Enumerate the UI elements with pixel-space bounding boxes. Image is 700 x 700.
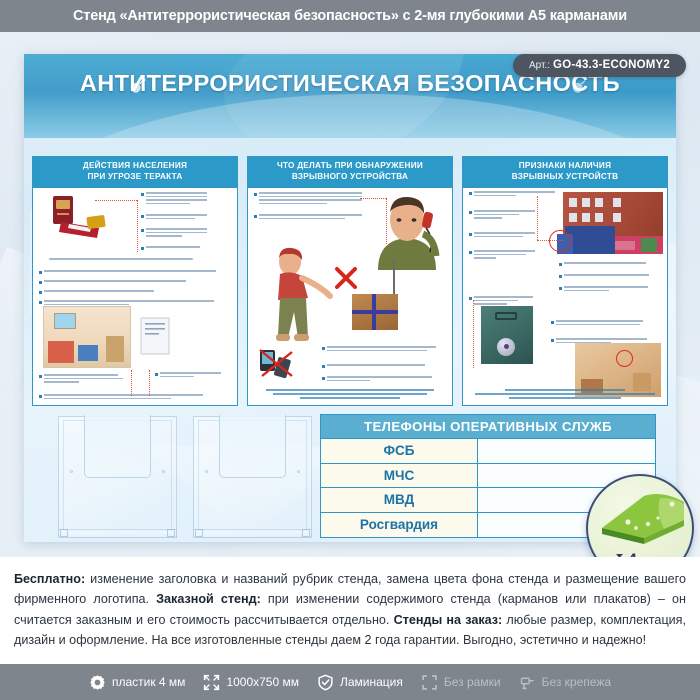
bullet-text xyxy=(327,346,436,353)
bullet-text xyxy=(146,228,207,239)
spec-size-text: 1000х750 мм xyxy=(226,675,299,689)
desc-order-label: Стенды на заказ: xyxy=(394,613,503,627)
panel-title-line2: ПРИ УГРОЗЕ ТЕРАКТА xyxy=(35,172,235,183)
bullet-marker xyxy=(39,301,42,304)
description-text: Бесплатно: изменение заголовка и названи… xyxy=(0,557,700,664)
panel-title-line1: ДЕЙСТВИЯ НАСЕЛЕНИЯ xyxy=(35,161,235,172)
bullet-text xyxy=(146,214,207,221)
leader-line xyxy=(149,370,150,396)
panels-row: ДЕЙСТВИЯ НАСЕЛЕНИЯ ПРИ УГРОЗЕ ТЕРАКТА xyxy=(32,156,668,406)
document-illustration xyxy=(137,314,177,360)
panel-header: ПРИЗНАКИ НАЛИЧИЯ ВЗРЫВНЫХ УСТРОЙСТВ xyxy=(463,157,667,188)
desc-custom-label: Заказной стенд: xyxy=(156,592,261,606)
article-badge: Арт.: GO-43.3-ECONOMY2 xyxy=(513,54,686,77)
service-name: МЧС xyxy=(321,464,478,488)
panel-footnote xyxy=(254,389,446,401)
body-text-block xyxy=(49,258,221,262)
room-illustration xyxy=(43,306,131,368)
pocket-corner xyxy=(60,529,68,537)
panel-explosive-found: ЧТО ДЕЛАТЬ ПРИ ОБНАРУЖЕНИИ ВЗРЫВНОГО УСТ… xyxy=(247,156,453,406)
spec-material-text: пластик 4 мм xyxy=(112,675,185,689)
bullet-item xyxy=(469,210,535,221)
spec-item-material: пластик 4 мм xyxy=(89,674,185,691)
bullet-marker xyxy=(141,229,144,232)
bullet-item xyxy=(322,346,436,353)
spec-item-frame: Без рамки xyxy=(421,674,501,691)
pocket-screw xyxy=(297,470,300,473)
pocket-base xyxy=(193,529,312,538)
panel-header: ДЕЙСТВИЯ НАСЕЛЕНИЯ ПРИ УГРОЗЕ ТЕРАКТА xyxy=(33,157,237,188)
bullet-marker xyxy=(551,339,554,342)
product-image: Арт.: GO-43.3-ECONOMY2 АНТИТЕРРОРИСТИЧЕС… xyxy=(0,32,700,557)
bullet-text xyxy=(44,374,125,385)
bullet-marker xyxy=(469,211,472,214)
resize-icon xyxy=(203,674,220,691)
bullet-item xyxy=(39,394,221,401)
service-name: Росгвардия xyxy=(321,513,478,538)
article-label: Арт.: xyxy=(529,60,550,71)
bullet-item xyxy=(559,262,651,266)
gear-icon xyxy=(89,674,106,691)
pocket-base xyxy=(58,529,177,538)
bullet-item xyxy=(469,296,543,307)
bullet-text xyxy=(146,192,207,206)
leader-line xyxy=(473,300,474,368)
bullet-item xyxy=(559,286,651,293)
table-row: МЧС xyxy=(321,464,655,489)
panel-body xyxy=(248,188,452,405)
spec-mount-text: Без крепежа xyxy=(542,675,611,689)
panel-header: ЧТО ДЕЛАТЬ ПРИ ОБНАРУЖЕНИИ ВЗРЫВНОГО УСТ… xyxy=(248,157,452,188)
leader-line xyxy=(137,200,138,252)
pocket-corner xyxy=(302,529,310,537)
pocket-screw xyxy=(162,470,165,473)
bullet-text xyxy=(474,250,535,261)
pocket-front-cutout xyxy=(219,415,286,478)
stand-board: АНТИТЕРРОРИСТИЧЕСКАЯ БЕЗОПАСНОСТЬ ДЕЙСТВ… xyxy=(24,54,676,542)
panel-footnote xyxy=(469,389,661,401)
bullet-marker xyxy=(254,193,257,196)
bullet-text xyxy=(44,290,221,294)
bullet-text xyxy=(259,214,362,221)
bullet-marker xyxy=(39,395,42,398)
bullet-text xyxy=(564,262,651,266)
bullet-item xyxy=(551,320,651,327)
spec-lamination-text: Ламинация xyxy=(340,675,403,689)
bullet-item xyxy=(141,214,207,221)
mobile-phones-illustration xyxy=(258,348,298,380)
bullet-marker xyxy=(141,247,144,250)
bullet-marker xyxy=(254,215,257,218)
page-title: Стенд «Антитеррористическая безопасность… xyxy=(73,8,627,24)
bullet-item xyxy=(39,374,125,385)
panel-body xyxy=(33,188,237,405)
spec-item-lamination: Ламинация xyxy=(317,674,403,691)
bullet-item xyxy=(254,214,362,221)
a5-pocket xyxy=(193,416,312,538)
bullet-text xyxy=(474,210,535,221)
spec-footer-bar: пластик 4 мм 1000х750 мм Ламинация xyxy=(0,664,700,700)
suspicious-bag-illustration xyxy=(481,306,533,364)
panel-title-line2: ВЗРЫВНОГО УСТРОЙСТВА xyxy=(250,172,450,183)
service-number xyxy=(478,439,655,463)
bullet-text xyxy=(44,394,221,401)
bullet-marker xyxy=(322,347,325,350)
bullet-text xyxy=(564,286,651,293)
leader-line xyxy=(131,370,132,396)
article-code: GO-43.3-ECONOMY2 xyxy=(553,59,670,71)
leader-line xyxy=(95,200,137,201)
service-name: МВД xyxy=(321,488,478,512)
sheet-thickness-icon xyxy=(600,492,686,550)
bullet-text xyxy=(474,232,535,239)
bullet-marker xyxy=(322,365,325,368)
bullet-marker xyxy=(39,375,42,378)
bullet-marker xyxy=(141,215,144,218)
drill-icon xyxy=(519,674,536,691)
panel-title-line1: ЧТО ДЕЛАТЬ ПРИ ОБНАРУЖЕНИИ xyxy=(250,161,450,172)
pocket-corner xyxy=(167,529,175,537)
bullet-marker xyxy=(469,297,472,300)
a5-pocket xyxy=(58,416,177,538)
bullet-text xyxy=(259,192,362,206)
bullet-text xyxy=(474,191,555,198)
table-header: ТЕЛЕФОНЫ ОПЕРАТИВНЫХ СЛУЖБ xyxy=(321,415,655,439)
bullet-item xyxy=(141,192,207,206)
bullet-item xyxy=(322,364,436,368)
bullet-text xyxy=(160,372,221,379)
highlight-circle xyxy=(616,350,633,367)
bullet-text xyxy=(146,246,207,250)
pocket-corner xyxy=(195,529,203,537)
spec-item-mount: Без крепежа xyxy=(519,674,611,691)
pocket-front-cutout xyxy=(84,415,151,478)
screenshot-root: Стенд «Антитеррористическая безопасность… xyxy=(0,0,700,700)
highlight-circle xyxy=(549,230,571,252)
bullet-item xyxy=(39,290,221,294)
desc-free-label: Бесплатно: xyxy=(14,572,85,586)
bullet-text xyxy=(564,274,651,278)
bullet-marker xyxy=(39,281,42,284)
bullet-item xyxy=(322,376,436,383)
thickness-label: 4мм xyxy=(588,550,692,557)
thickness-value: 4 xyxy=(627,550,636,557)
spec-frame-text: Без рамки xyxy=(444,675,501,689)
panel-title-line1: ПРИЗНАКИ НАЛИЧИЯ xyxy=(465,161,665,172)
bullet-marker xyxy=(39,271,42,274)
bullet-item xyxy=(141,246,207,250)
bullet-item xyxy=(39,280,221,284)
leader-line xyxy=(537,240,563,241)
bullet-item xyxy=(559,274,651,278)
bullet-marker xyxy=(141,193,144,196)
bullet-item xyxy=(469,191,555,198)
bullet-marker xyxy=(39,291,42,294)
bullet-marker xyxy=(322,377,325,380)
bullet-item xyxy=(254,192,362,206)
man-calling-illustration xyxy=(368,194,446,270)
page-title-bar: Стенд «Антитеррористическая безопасность… xyxy=(0,0,700,32)
bullet-marker xyxy=(559,263,562,266)
bullet-text xyxy=(474,296,543,307)
prohibition-cross-icon xyxy=(334,266,358,290)
pocket-screw xyxy=(205,470,208,473)
service-name: ФСБ xyxy=(321,439,478,463)
bullet-marker xyxy=(559,287,562,290)
bullet-text xyxy=(44,270,221,274)
bomb-icon xyxy=(570,78,588,94)
bullet-marker xyxy=(155,373,158,376)
bullet-marker xyxy=(469,192,472,195)
bullet-item xyxy=(469,232,535,239)
bullet-item xyxy=(39,270,221,274)
pocket-screw xyxy=(70,470,73,473)
thickness-unit: мм xyxy=(637,556,653,557)
bullet-marker xyxy=(469,251,472,254)
bullet-marker xyxy=(559,275,562,278)
antenna xyxy=(393,260,395,294)
table-row: ФСБ xyxy=(321,439,655,464)
frame-icon xyxy=(421,674,438,691)
bullet-text xyxy=(327,364,436,368)
bullet-item xyxy=(141,228,207,239)
bullet-marker xyxy=(551,321,554,324)
bullet-item xyxy=(469,250,535,261)
panel-explosive-signs: ПРИЗНАКИ НАЛИЧИЯ ВЗРЫВНЫХ УСТРОЙСТВ xyxy=(462,156,668,406)
bomb-icon xyxy=(128,78,146,94)
spec-item-size: 1000х750 мм xyxy=(203,674,299,691)
explosive-device-illustration xyxy=(352,294,398,330)
pockets-group xyxy=(58,416,312,538)
bullet-text xyxy=(44,280,221,284)
panel-population-actions: ДЕЙСТВИЯ НАСЕЛЕНИЯ ПРИ УГРОЗЕ ТЕРАКТА xyxy=(32,156,238,406)
leader-line xyxy=(537,196,538,240)
panel-body xyxy=(463,188,667,405)
bullet-marker xyxy=(469,233,472,236)
shield-check-icon xyxy=(317,674,334,691)
bullet-text xyxy=(556,320,651,327)
panel-title-line2: ВЗРЫВНЫХ УСТРОЙСТВ xyxy=(465,172,665,183)
bullet-text xyxy=(327,376,436,383)
bullet-item xyxy=(155,372,221,379)
